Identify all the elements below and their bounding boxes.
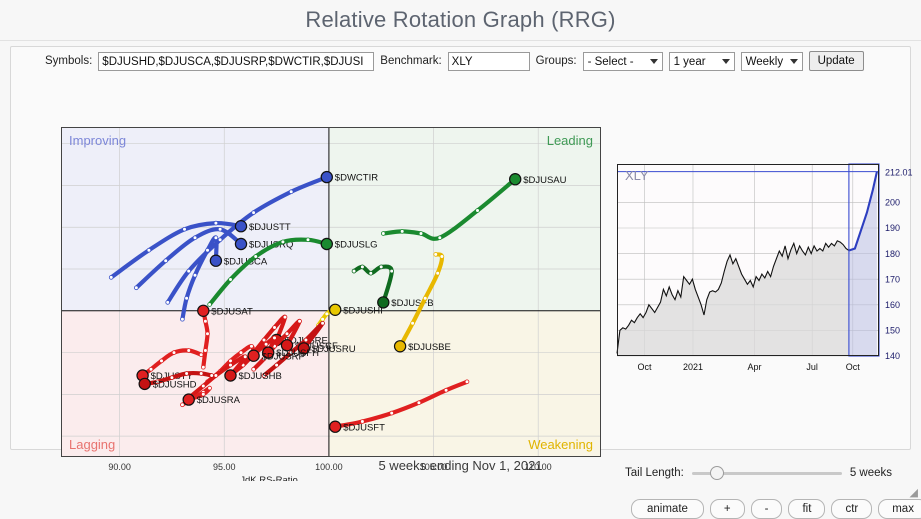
chart-caption: 5 weeks ending Nov 1, 2021 — [0, 458, 921, 473]
price-x-tick: Jul — [806, 362, 818, 372]
benchmark-input[interactable]: XLY — [448, 52, 530, 71]
tail-node — [214, 236, 218, 240]
series-label: $DJUSAU — [523, 175, 566, 186]
series-head-marker — [248, 350, 259, 361]
tail-node — [411, 321, 415, 325]
tail-node — [321, 317, 325, 321]
price-y-tick: 170 — [885, 274, 900, 284]
quadrant-label-lagging: Lagging — [69, 437, 115, 452]
benchmark-label: Benchmark: — [380, 55, 441, 67]
series-label: $DJUSBE — [408, 342, 451, 353]
series-head-marker — [330, 421, 341, 432]
tail-node — [262, 338, 266, 342]
tail-node — [181, 403, 185, 407]
series-head-marker — [235, 238, 246, 249]
series-head-marker — [395, 341, 406, 352]
tail-node — [252, 211, 256, 215]
series-head-marker — [198, 305, 209, 316]
tail-node — [264, 342, 268, 346]
update-button[interactable]: Update — [809, 51, 864, 71]
series-head-marker — [139, 378, 150, 389]
tail-node — [199, 353, 203, 357]
x-axis-title: JdK RS-Ratio — [240, 475, 298, 481]
tail-node — [185, 372, 189, 376]
rrg-page: Relative Rotation Graph (RRG) Symbols: $… — [0, 0, 921, 506]
tail-node — [134, 286, 138, 290]
price-x-tick: Apr — [748, 362, 762, 372]
chevron-down-icon — [722, 59, 730, 64]
price-y-tick: 140 — [885, 351, 900, 361]
tail-node — [199, 372, 203, 376]
benchmark-price-chart[interactable]: 200190180170160150140Oct2021AprJulOct212… — [613, 160, 921, 380]
frequency-select[interactable]: Weekly — [741, 52, 803, 71]
tail-node — [275, 363, 279, 367]
tail-node — [304, 338, 308, 342]
tail-node — [434, 253, 438, 257]
series-label: $DJUSHB — [239, 371, 282, 382]
tail-node — [229, 278, 233, 282]
series-label: $DJUSRA — [197, 395, 241, 406]
series-head-marker — [235, 221, 246, 232]
series-head-marker — [321, 238, 332, 249]
tail-node — [361, 265, 365, 269]
tail-node — [185, 296, 189, 300]
price-chart-symbol: XLY — [625, 168, 649, 183]
price-y-tick: 190 — [885, 223, 900, 233]
tail-node — [281, 240, 285, 244]
tail-node — [243, 355, 247, 359]
tail-node — [298, 319, 302, 323]
quadrant-label-improving: Improving — [69, 133, 126, 148]
zoom-out-button[interactable]: - — [751, 499, 783, 519]
price-x-tick: Oct — [638, 362, 653, 372]
tail-node — [210, 374, 214, 378]
tail-node — [214, 374, 218, 378]
price-x-tick: 2021 — [683, 362, 703, 372]
series-label: $DJUSFB — [391, 298, 433, 309]
tail-node — [172, 351, 176, 355]
tail-node — [204, 319, 208, 323]
price-last-value: 212.01 — [885, 168, 913, 178]
tail-node — [193, 236, 197, 240]
tail-node — [147, 248, 151, 252]
groups-select[interactable]: - Select - — [583, 52, 663, 71]
tail-node — [250, 344, 254, 348]
quadrant-label-leading: Leading — [547, 133, 593, 148]
tail-node — [181, 317, 185, 321]
tail-node — [208, 386, 212, 390]
tail-node — [325, 312, 329, 316]
chart-panel: Symbols: $DJUSHD,$DJUSCA,$DJUSRP,$DWCTIR… — [10, 46, 911, 450]
rrg-plot[interactable]: ImprovingLeadingLaggingWeakening90.0095.… — [61, 127, 601, 481]
tail-node — [400, 230, 404, 234]
tail-node — [214, 221, 218, 225]
tail-node — [218, 227, 222, 231]
tail-node — [164, 259, 168, 263]
tail-node — [206, 248, 210, 252]
series-head-marker — [321, 172, 332, 183]
series-head-marker — [510, 174, 521, 185]
resize-handle-icon[interactable]: ◢ — [902, 488, 918, 504]
series-label: $DJUSAT — [211, 306, 253, 317]
tail-node — [321, 321, 325, 325]
tail-node — [465, 380, 469, 384]
frequency-select-value: Weekly — [746, 56, 784, 68]
series-label: $DJUSTT — [249, 222, 291, 233]
tail-node — [160, 359, 164, 363]
series-head-marker — [225, 370, 236, 381]
series-head-marker — [210, 255, 221, 266]
page-header: Relative Rotation Graph (RRG) — [0, 0, 921, 40]
symbols-input[interactable]: $DJUSHD,$DJUSCA,$DJUSRP,$DWCTIR,$DJUSI — [98, 52, 374, 71]
series-label: $DJUSLG — [335, 240, 378, 251]
period-select[interactable]: 1 year — [669, 52, 735, 71]
zoom-in-button[interactable]: + — [710, 499, 745, 519]
tail-node — [206, 332, 210, 336]
price-y-tick: 200 — [885, 198, 900, 208]
tail-node — [285, 332, 289, 336]
tail-node — [440, 255, 444, 259]
price-y-tick: 150 — [885, 326, 900, 336]
tail-node — [229, 363, 233, 367]
chart-area: ImprovingLeadingLaggingWeakening90.0095.… — [11, 80, 912, 450]
series-label: $DWCTIR — [335, 173, 378, 184]
tail-node — [289, 190, 293, 194]
tail-node — [369, 271, 373, 275]
period-select-value: 1 year — [674, 56, 706, 68]
series-head-marker — [330, 304, 341, 315]
tail-node — [438, 236, 442, 240]
tail-node — [419, 232, 423, 236]
tail-node — [436, 271, 440, 275]
quadrant-improving-bg — [61, 127, 329, 311]
tail-node — [204, 349, 208, 353]
tail-node — [201, 365, 205, 369]
price-y-tick: 160 — [885, 300, 900, 310]
tail-node — [390, 411, 394, 415]
tail-node — [283, 315, 287, 319]
price-x-tick: Oct — [846, 362, 861, 372]
tail-node — [352, 269, 356, 273]
tail-node — [187, 349, 191, 353]
groups-label: Groups: — [536, 55, 577, 67]
tail-node — [444, 388, 448, 392]
tail-node — [273, 326, 277, 330]
tail-node — [166, 301, 170, 305]
tail-node — [254, 255, 258, 259]
tail-node — [423, 296, 427, 300]
tail-node — [187, 269, 191, 273]
series-label: $DJUSHD — [153, 380, 197, 391]
series-label: $DJUSFT — [343, 422, 385, 433]
tail-node — [379, 265, 383, 269]
quadrant-label-weakening: Weakening — [528, 437, 593, 452]
center-button[interactable]: ctr — [831, 499, 872, 519]
series-head-marker — [183, 394, 194, 405]
tail-node — [193, 273, 197, 277]
series-label: $DJUSHI — [343, 305, 383, 316]
animate-button[interactable]: animate — [631, 499, 704, 519]
chart-toolbar: Symbols: $DJUSHD,$DJUSCA,$DJUSRP,$DWCTIR… — [11, 47, 910, 75]
tail-node — [390, 269, 394, 273]
tail-node — [218, 238, 222, 242]
tail-node — [476, 209, 480, 213]
groups-select-value: - Select - — [588, 56, 634, 68]
chevron-down-icon — [790, 59, 798, 64]
tail-node — [201, 384, 205, 388]
tail-node — [109, 276, 113, 280]
tail-node — [417, 401, 421, 405]
tail-node — [306, 238, 310, 242]
fit-button[interactable]: fit — [788, 499, 825, 519]
header-divider — [0, 40, 921, 41]
page-title: Relative Rotation Graph (RRG) — [305, 7, 615, 33]
tail-node — [183, 227, 187, 231]
tail-node — [239, 351, 243, 355]
series-label: $DJUSRP — [262, 351, 305, 362]
chart-action-buttons: animate + - fit ctr max — [631, 499, 921, 519]
tail-node — [273, 336, 277, 340]
chevron-down-icon — [650, 59, 658, 64]
symbols-label: Symbols: — [45, 55, 92, 67]
tail-node — [381, 232, 385, 236]
price-y-tick: 180 — [885, 249, 900, 259]
